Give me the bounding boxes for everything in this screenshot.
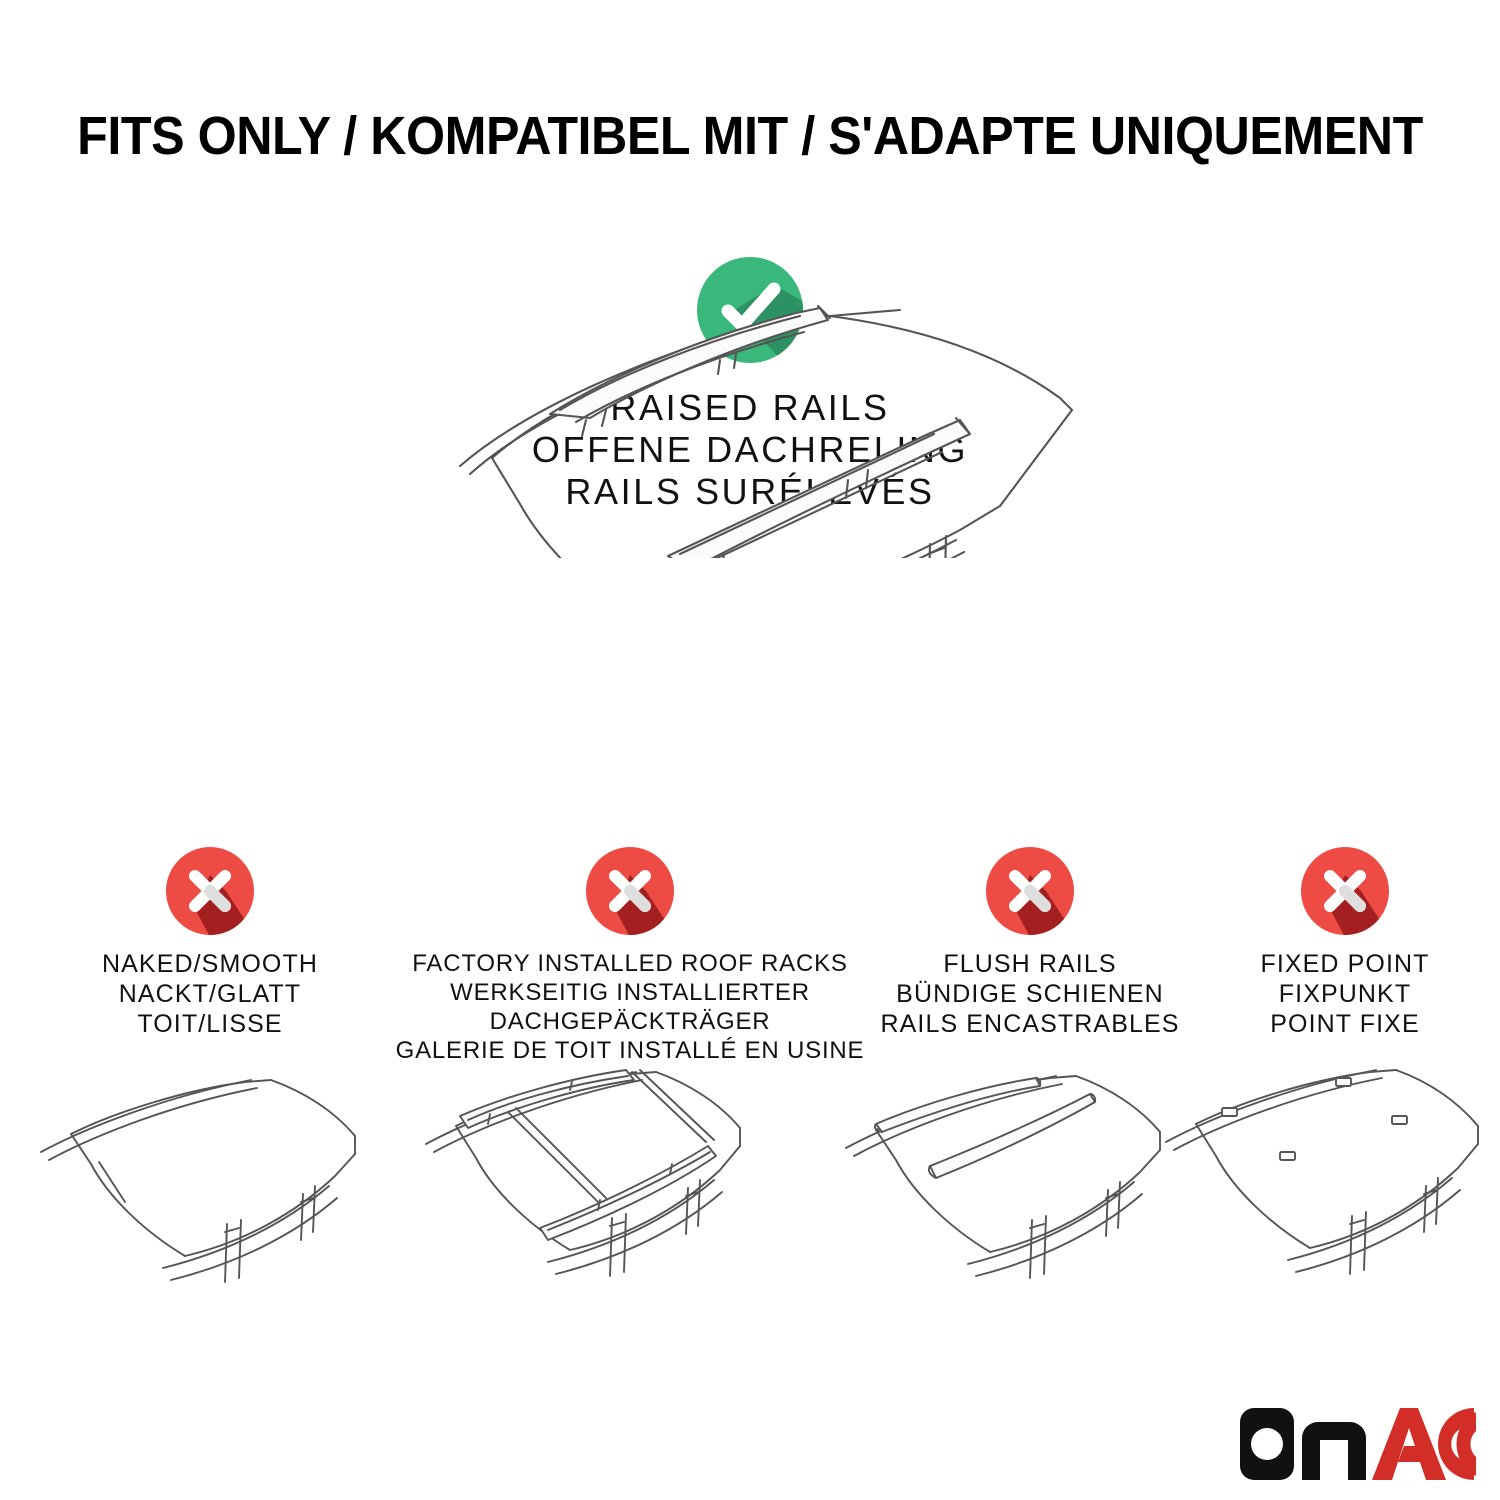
incompatible-label-fr: RAILS ENCASTRABLES [865, 1009, 1195, 1039]
incompatible-label-fr: TOIT/LISSE [30, 1009, 390, 1039]
incompatible-section-fixed-point: FIXED POINT FIXPUNKT POINT FIXE [1200, 845, 1490, 1039]
incompatible-labels: FLUSH RAILS BÜNDIGE SCHIENEN RAILS ENCAS… [865, 949, 1195, 1039]
incompatible-label-de: NACKT/GLATT [30, 979, 390, 1009]
incompatible-label-en: NAKED/SMOOTH [30, 949, 390, 979]
page-title: FITS ONLY / KOMPATIBEL MIT / S'ADAPTE UN… [53, 104, 1448, 168]
car-roof-flush-rails-illustration [840, 1060, 1190, 1310]
incompatible-labels: FIXED POINT FIXPUNKT POINT FIXE [1200, 949, 1490, 1039]
incompatible-label-en: FACTORY INSTALLED ROOF RACKS [395, 949, 865, 978]
car-roof-fixed-point-illustration [1160, 1060, 1500, 1310]
car-roof-raised-rails-illustration [0, 258, 1500, 568]
incompatible-section-factory-roof-racks: FACTORY INSTALLED ROOF RACKS WERKSEITIG … [395, 845, 865, 1065]
incompatible-section-flush-rails: FLUSH RAILS BÜNDIGE SCHIENEN RAILS ENCAS… [865, 845, 1195, 1039]
cross-circle-icon [1299, 845, 1391, 937]
incompatible-label-en: FLUSH RAILS [865, 949, 1195, 979]
incompatible-label-en: FIXED POINT [1200, 949, 1490, 979]
incompatible-label-de-1: WERKSEITIG INSTALLIERTER [395, 978, 865, 1007]
incompatible-section-naked-smooth: NAKED/SMOOTH NACKT/GLATT TOIT/LISSE [30, 845, 390, 1039]
cross-circle-icon [984, 845, 1076, 937]
incompatible-label-fr: POINT FIXE [1200, 1009, 1490, 1039]
car-roof-factory-roof-racks-illustration [420, 1060, 770, 1310]
cross-circle-icon [584, 845, 676, 937]
incompatible-label-de-2: DACHGEPÄCKTRÄGER [395, 1007, 865, 1036]
car-roof-naked-smooth-illustration [35, 1060, 385, 1310]
cross-circle-icon [164, 845, 256, 937]
incompatible-labels: NAKED/SMOOTH NACKT/GLATT TOIT/LISSE [30, 949, 390, 1039]
omac-logo [1236, 1408, 1476, 1482]
incompatible-label-de: FIXPUNKT [1200, 979, 1490, 1009]
incompatible-label-de: BÜNDIGE SCHIENEN [865, 979, 1195, 1009]
incompatible-labels: FACTORY INSTALLED ROOF RACKS WERKSEITIG … [395, 949, 865, 1065]
roof-illustrations [0, 1060, 1500, 1320]
